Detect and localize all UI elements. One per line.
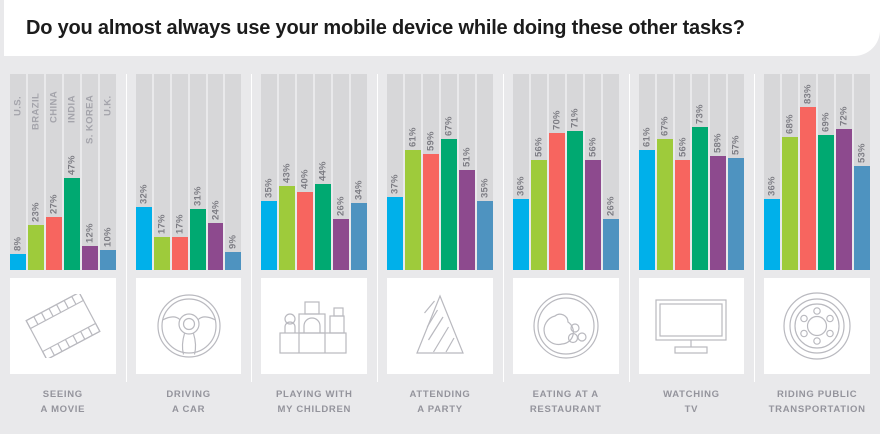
bar-attending-a-party-china[interactable] bbox=[423, 154, 439, 270]
bar-eating-at-a-restaurant-india[interactable] bbox=[567, 131, 583, 270]
panel-riding-public-transportation: 36%68%83%69%72%53% RIDING PUBLICTRANSPOR… bbox=[754, 56, 880, 434]
bar-track: 44% bbox=[315, 74, 331, 270]
toy-blocks-icon bbox=[274, 295, 354, 357]
caption-line: A CAR bbox=[132, 403, 246, 418]
bar-driving-a-car-u-s[interactable] bbox=[136, 207, 152, 270]
bar-value-label: 26% bbox=[333, 182, 349, 216]
bar-driving-a-car-china[interactable] bbox=[172, 237, 188, 270]
bar-value-label: 53% bbox=[854, 129, 870, 163]
bar-track: 59% bbox=[423, 74, 439, 270]
bar-value-label: 17% bbox=[172, 200, 188, 234]
panel-caption-riding-public-transportation: RIDING PUBLICTRANSPORTATION bbox=[760, 388, 874, 417]
panel-driving-a-car: 32%17%17%31%24%9% DRIVINGA CAR bbox=[126, 56, 252, 434]
panel-caption-playing-with-my-children: PLAYING WITHMY CHILDREN bbox=[257, 388, 371, 417]
panel-seeing-a-movie: 8%U.S.23%BRAZIL27%CHINA47%INDIA12%S. KOR… bbox=[0, 56, 126, 434]
bar-attending-a-party-u-k[interactable] bbox=[477, 201, 493, 270]
icon-card-riding-public-transportation bbox=[764, 278, 870, 374]
bar-watching-tv-u-s[interactable] bbox=[639, 150, 655, 270]
bar-value-label: 27% bbox=[46, 180, 62, 214]
caption-line: TRANSPORTATION bbox=[760, 403, 874, 418]
bar-value-label: 34% bbox=[351, 166, 367, 200]
bar-attending-a-party-india[interactable] bbox=[441, 139, 457, 270]
bar-value-label: 71% bbox=[567, 94, 583, 128]
bar-value-label: 83% bbox=[800, 70, 816, 104]
bar-attending-a-party-s-korea[interactable] bbox=[459, 170, 475, 270]
panel-caption-eating-at-a-restaurant: EATING AT ARESTAURANT bbox=[509, 388, 623, 417]
icon-card-eating-at-a-restaurant bbox=[513, 278, 619, 374]
icon-card-watching-tv bbox=[639, 278, 745, 374]
bar-value-label: 69% bbox=[818, 98, 834, 132]
bar-track: 32% bbox=[136, 74, 152, 270]
bar-watching-tv-brazil[interactable] bbox=[657, 139, 673, 270]
caption-line: MY CHILDREN bbox=[257, 403, 371, 418]
icon-card-playing-with-my-children bbox=[261, 278, 367, 374]
bar-value-label: 44% bbox=[315, 147, 331, 181]
panel-caption-attending-a-party: ATTENDINGA PARTY bbox=[383, 388, 497, 417]
icon-card-driving-a-car bbox=[136, 278, 242, 374]
bar-driving-a-car-u-k[interactable] bbox=[225, 252, 241, 270]
bar-seeing-a-movie-china[interactable] bbox=[46, 217, 62, 270]
steering-wheel-icon bbox=[154, 291, 224, 361]
bar-track: 58% bbox=[710, 74, 726, 270]
bar-driving-a-car-india[interactable] bbox=[190, 209, 206, 270]
bar-watching-tv-india[interactable] bbox=[692, 127, 708, 270]
bar-track: 31% bbox=[190, 74, 206, 270]
bar-track: 73% bbox=[692, 74, 708, 270]
country-label-india: INDIA bbox=[64, 80, 80, 123]
bar-track: 26% bbox=[333, 74, 349, 270]
television-icon bbox=[651, 296, 731, 356]
country-label-u-s: U.S. bbox=[10, 80, 26, 116]
bar-attending-a-party-u-s[interactable] bbox=[387, 197, 403, 270]
bar-seeing-a-movie-s-korea[interactable] bbox=[82, 246, 98, 270]
bar-value-label: 61% bbox=[639, 113, 655, 147]
bar-track: 69% bbox=[818, 74, 834, 270]
bar-value-label: 70% bbox=[549, 96, 565, 130]
bar-track: 61% bbox=[405, 74, 421, 270]
bar-track: 40% bbox=[297, 74, 313, 270]
bar-eating-at-a-restaurant-brazil[interactable] bbox=[531, 160, 547, 270]
title-bar: Do you almost always use your mobile dev… bbox=[4, 0, 880, 56]
bar-value-label: 68% bbox=[782, 100, 798, 134]
bar-riding-public-transportation-china[interactable] bbox=[800, 107, 816, 270]
bar-playing-with-my-children-u-s[interactable] bbox=[261, 201, 277, 270]
bar-value-label: 56% bbox=[531, 123, 547, 157]
bar-track: 56% bbox=[675, 74, 691, 270]
caption-line: A PARTY bbox=[383, 403, 497, 418]
bar-value-label: 23% bbox=[28, 188, 44, 222]
bar-value-label: 57% bbox=[728, 121, 744, 155]
bar-track: 61% bbox=[639, 74, 655, 270]
caption-line: RESTAURANT bbox=[509, 403, 623, 418]
bar-track: 56% bbox=[531, 74, 547, 270]
bar-group-playing-with-my-children: 35%43%40%44%26%34% bbox=[257, 74, 371, 270]
bar-group-driving-a-car: 32%17%17%31%24%9% bbox=[132, 74, 246, 270]
bar-value-label: 9% bbox=[225, 215, 241, 249]
bar-playing-with-my-children-s-korea[interactable] bbox=[333, 219, 349, 270]
bar-value-label: 47% bbox=[64, 141, 80, 175]
caption-line: EATING AT A bbox=[509, 388, 623, 403]
bar-watching-tv-u-k[interactable] bbox=[728, 158, 744, 270]
bar-eating-at-a-restaurant-u-k[interactable] bbox=[603, 219, 619, 270]
bar-track: 27%CHINA bbox=[46, 74, 62, 270]
country-label-u-k: U.K. bbox=[100, 80, 116, 116]
bar-track: 17% bbox=[172, 74, 188, 270]
bar-track: 57% bbox=[728, 74, 744, 270]
bar-track: 67% bbox=[441, 74, 457, 270]
bar-value-label: 58% bbox=[710, 119, 726, 153]
caption-line: DRIVING bbox=[132, 388, 246, 403]
bar-watching-tv-s-korea[interactable] bbox=[710, 156, 726, 270]
bar-eating-at-a-restaurant-u-s[interactable] bbox=[513, 199, 529, 270]
bar-track: 10%U.K. bbox=[100, 74, 116, 270]
bar-seeing-a-movie-india[interactable] bbox=[64, 178, 80, 270]
panel-caption-seeing-a-movie: SEEINGA MOVIE bbox=[6, 388, 120, 417]
country-label-brazil: BRAZIL bbox=[28, 80, 44, 130]
bar-value-label: 73% bbox=[692, 90, 708, 124]
bar-group-eating-at-a-restaurant: 36%56%70%71%56%26% bbox=[509, 74, 623, 270]
bar-value-label: 36% bbox=[513, 162, 529, 196]
bar-value-label: 67% bbox=[441, 102, 457, 136]
page-title: Do you almost always use your mobile dev… bbox=[4, 17, 745, 39]
bar-attending-a-party-brazil[interactable] bbox=[405, 150, 421, 270]
bar-riding-public-transportation-brazil[interactable] bbox=[782, 137, 798, 270]
bar-value-label: 59% bbox=[423, 117, 439, 151]
bus-wheel-icon bbox=[781, 290, 853, 362]
bar-group-riding-public-transportation: 36%68%83%69%72%53% bbox=[760, 74, 874, 270]
bar-value-label: 72% bbox=[836, 92, 852, 126]
country-label-s-korea: S. KOREA bbox=[82, 80, 98, 144]
bar-track: 8%U.S. bbox=[10, 74, 26, 270]
bar-track: 70% bbox=[549, 74, 565, 270]
bar-group-attending-a-party: 37%61%59%67%51%35% bbox=[383, 74, 497, 270]
bar-value-label: 35% bbox=[261, 164, 277, 198]
bar-playing-with-my-children-brazil[interactable] bbox=[279, 186, 295, 270]
bar-value-label: 17% bbox=[154, 200, 170, 234]
bar-value-label: 51% bbox=[459, 133, 475, 167]
bar-riding-public-transportation-s-korea[interactable] bbox=[836, 129, 852, 270]
country-label-china: CHINA bbox=[46, 80, 62, 123]
bar-track: 47%INDIA bbox=[64, 74, 80, 270]
bar-track: 67% bbox=[657, 74, 673, 270]
infographic-root: Do you almost always use your mobile dev… bbox=[0, 0, 880, 434]
bar-riding-public-transportation-u-s[interactable] bbox=[764, 199, 780, 270]
bar-seeing-a-movie-u-s[interactable] bbox=[10, 254, 26, 270]
bar-value-label: 24% bbox=[208, 186, 224, 220]
caption-line: PLAYING WITH bbox=[257, 388, 371, 403]
bar-playing-with-my-children-u-k[interactable] bbox=[351, 203, 367, 270]
panel-watching-tv: 61%67%56%73%58%57% WATCHINGTV bbox=[629, 56, 755, 434]
bar-eating-at-a-restaurant-s-korea[interactable] bbox=[585, 160, 601, 270]
bar-value-label: 8% bbox=[10, 217, 26, 251]
panel-eating-at-a-restaurant: 36%56%70%71%56%26% EATING AT ARESTAURANT bbox=[503, 56, 629, 434]
bar-value-label: 31% bbox=[190, 172, 206, 206]
bar-eating-at-a-restaurant-china[interactable] bbox=[549, 133, 565, 270]
panel-caption-watching-tv: WATCHINGTV bbox=[635, 388, 749, 417]
bar-value-label: 61% bbox=[405, 113, 421, 147]
bar-track: 34% bbox=[351, 74, 367, 270]
party-hat-icon bbox=[407, 291, 473, 361]
bar-value-label: 43% bbox=[279, 149, 295, 183]
bar-value-label: 56% bbox=[675, 123, 691, 157]
bar-track: 51% bbox=[459, 74, 475, 270]
bar-track: 53% bbox=[854, 74, 870, 270]
bar-value-label: 32% bbox=[136, 170, 152, 204]
bar-track: 26% bbox=[603, 74, 619, 270]
film-strip-icon bbox=[25, 294, 101, 358]
icon-card-attending-a-party bbox=[387, 278, 493, 374]
bar-playing-with-my-children-china[interactable] bbox=[297, 192, 313, 270]
caption-line: SEEING bbox=[6, 388, 120, 403]
bar-track: 12%S. KOREA bbox=[82, 74, 98, 270]
bar-track: 56% bbox=[585, 74, 601, 270]
bar-group-watching-tv: 61%67%56%73%58%57% bbox=[635, 74, 749, 270]
panel-caption-driving-a-car: DRIVINGA CAR bbox=[132, 388, 246, 417]
plate-of-food-icon bbox=[530, 290, 602, 362]
bar-track: 9% bbox=[225, 74, 241, 270]
bar-track: 17% bbox=[154, 74, 170, 270]
panel-attending-a-party: 37%61%59%67%51%35% ATTENDINGA PARTY bbox=[377, 56, 503, 434]
bar-seeing-a-movie-brazil[interactable] bbox=[28, 225, 44, 270]
caption-line: RIDING PUBLIC bbox=[760, 388, 874, 403]
bar-value-label: 67% bbox=[657, 102, 673, 136]
bar-value-label: 12% bbox=[82, 209, 98, 243]
bar-value-label: 36% bbox=[764, 162, 780, 196]
panel-playing-with-my-children: 35%43%40%44%26%34% PLAYING WITHMY CHILDR… bbox=[251, 56, 377, 434]
bar-value-label: 10% bbox=[100, 213, 116, 247]
bar-track: 23%BRAZIL bbox=[28, 74, 44, 270]
bar-track: 35% bbox=[261, 74, 277, 270]
bar-track: 36% bbox=[513, 74, 529, 270]
bar-value-label: 37% bbox=[387, 160, 403, 194]
caption-line: ATTENDING bbox=[383, 388, 497, 403]
bar-track: 71% bbox=[567, 74, 583, 270]
bar-seeing-a-movie-u-k[interactable] bbox=[100, 250, 116, 270]
bar-driving-a-car-brazil[interactable] bbox=[154, 237, 170, 270]
bar-value-label: 35% bbox=[477, 164, 493, 198]
bar-track: 24% bbox=[208, 74, 224, 270]
caption-line: WATCHING bbox=[635, 388, 749, 403]
bar-playing-with-my-children-india[interactable] bbox=[315, 184, 331, 270]
bar-track: 36% bbox=[764, 74, 780, 270]
bar-value-label: 26% bbox=[603, 182, 619, 216]
bar-track: 72% bbox=[836, 74, 852, 270]
bar-track: 35% bbox=[477, 74, 493, 270]
bar-track: 83% bbox=[800, 74, 816, 270]
bar-driving-a-car-s-korea[interactable] bbox=[208, 223, 224, 270]
bar-riding-public-transportation-india[interactable] bbox=[818, 135, 834, 270]
bar-group-seeing-a-movie: 8%U.S.23%BRAZIL27%CHINA47%INDIA12%S. KOR… bbox=[6, 74, 120, 270]
bar-track: 43% bbox=[279, 74, 295, 270]
caption-line: A MOVIE bbox=[6, 403, 120, 418]
panels-container: 8%U.S.23%BRAZIL27%CHINA47%INDIA12%S. KOR… bbox=[0, 56, 880, 434]
bar-watching-tv-china[interactable] bbox=[675, 160, 691, 270]
bar-value-label: 40% bbox=[297, 155, 313, 189]
icon-card-seeing-a-movie bbox=[10, 278, 116, 374]
bar-track: 68% bbox=[782, 74, 798, 270]
bar-riding-public-transportation-u-k[interactable] bbox=[854, 166, 870, 270]
caption-line: TV bbox=[635, 403, 749, 418]
bar-value-label: 56% bbox=[585, 123, 601, 157]
bar-track: 37% bbox=[387, 74, 403, 270]
